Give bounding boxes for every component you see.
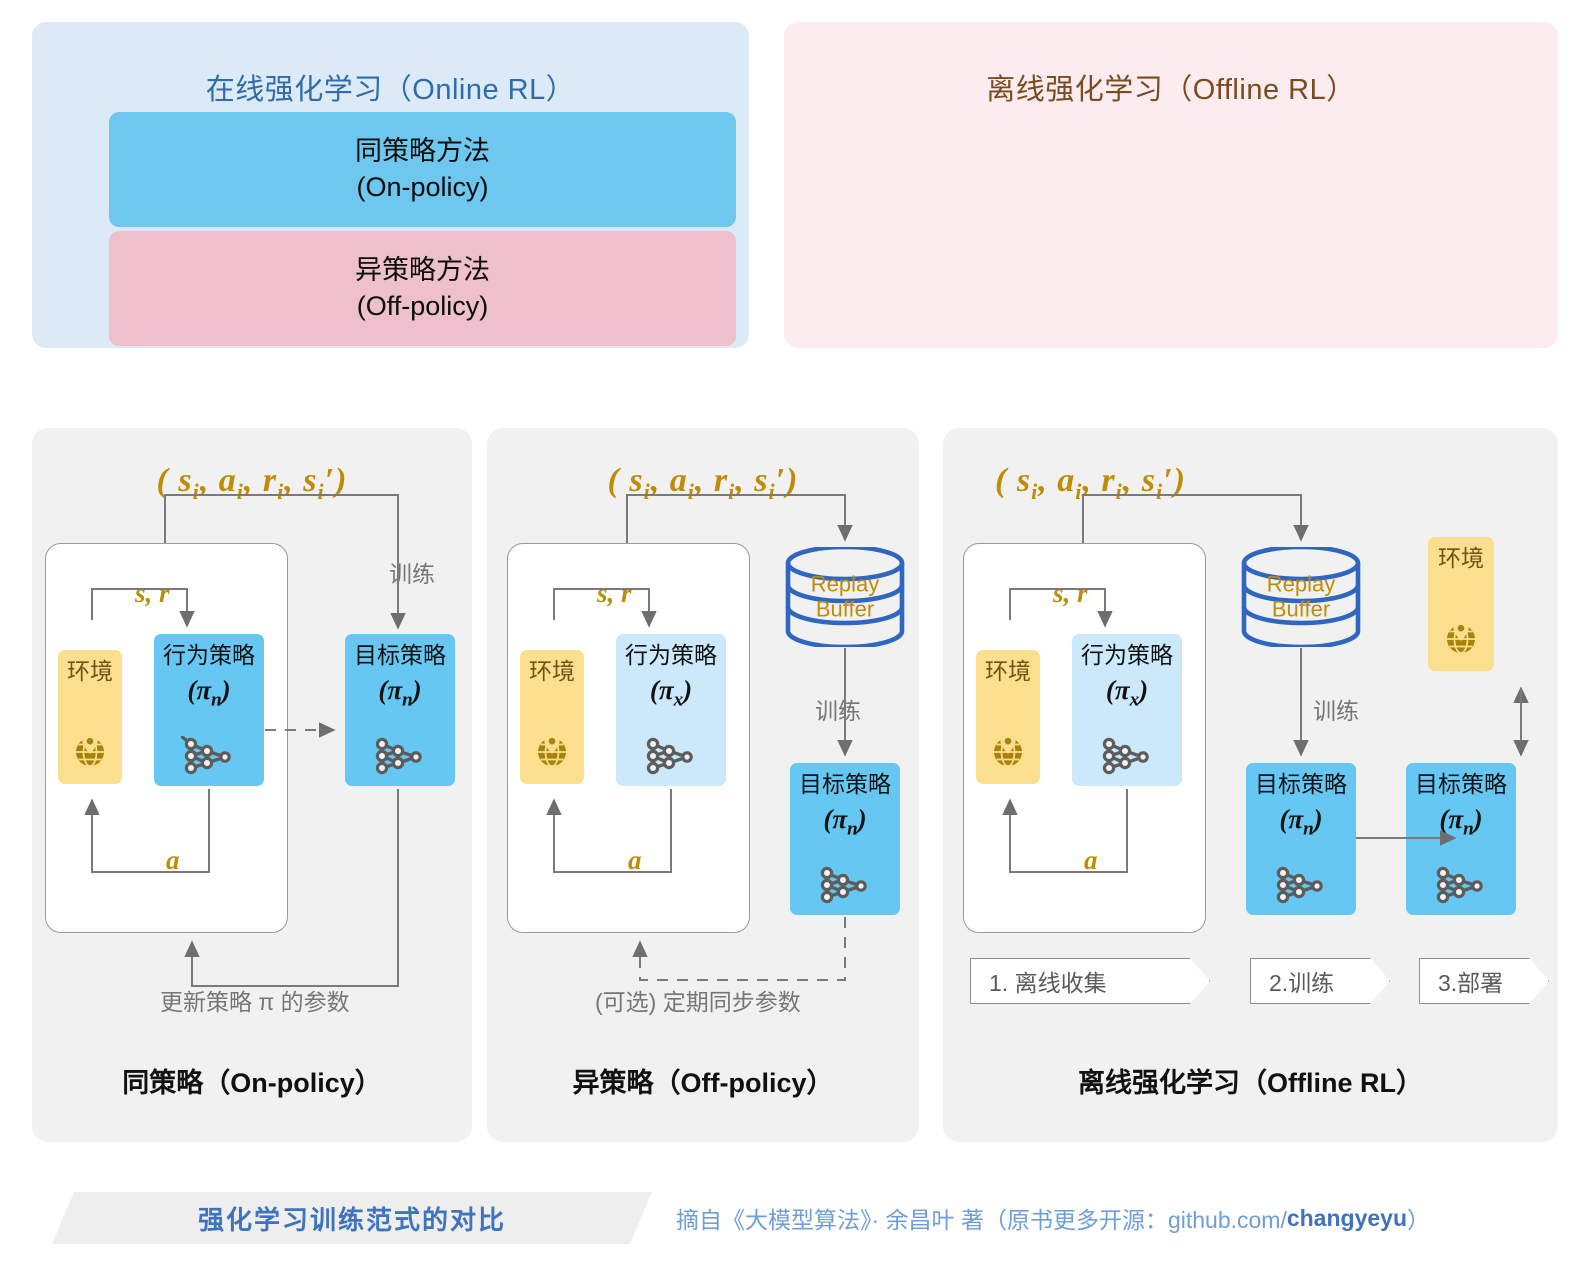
globe-icon (532, 730, 572, 770)
offline-step-1-label: 1. 离线收集 (989, 964, 1107, 998)
neural-network-icon (181, 736, 237, 776)
offpolicy-environment-node: 环境 (520, 650, 584, 784)
offpolicy-replay-buffer: Replay Buffer (780, 547, 910, 647)
diagram-canvas: 在线强化学习（Online RL） 同策略方法 (On-policy) 异策略方… (0, 0, 1590, 1268)
offline-step-1: 1. 离线收集 (970, 958, 1210, 1004)
offline-environment-label: 环境 (985, 659, 1031, 684)
offpolicy-behavior-policy-label: 行为策略 (625, 643, 717, 668)
offline-behavior-policy-label: 行为策略 (1081, 643, 1173, 668)
onpolicy-a-label: a (166, 845, 180, 876)
onpolicy-train-label: 训练 (389, 555, 435, 589)
offline-step-2-label: 2.训练 (1269, 964, 1334, 998)
online-offpolicy-label-en: (Off-policy) (357, 289, 489, 325)
offline-target-policy-deploy-label: 目标策略 (1415, 772, 1507, 797)
offpolicy-target-policy-pi: (πn) (823, 804, 866, 840)
offline-step-3: 3.部署 (1419, 958, 1549, 1004)
neural-network-icon (1433, 865, 1489, 905)
offpolicy-a-label: a (628, 845, 642, 876)
database-cylinder-icon (780, 547, 910, 647)
offpolicy-target-policy-node: 目标策略 (πn) (790, 763, 900, 915)
onpolicy-flow-panel: ( si, ai, ri, si′) s, r a 训练 更新策略 π 的参数 … (32, 428, 472, 1142)
offline-target-policy-train-node: 目标策略 (πn) (1246, 763, 1356, 915)
offline-replay-buffer: Replay Buffer (1236, 547, 1366, 647)
online-onpolicy-label-cn: 同策略方法 (355, 134, 490, 170)
offpolicy-sync-label: (可选) 定期同步参数 (595, 983, 801, 1017)
globe-icon (988, 730, 1028, 770)
offline-deploy-environment-node: 环境 (1428, 537, 1494, 671)
online-onpolicy-label-en: (On-policy) (356, 170, 488, 206)
offline-panel-caption: 离线强化学习（Offline RL） (943, 1061, 1558, 1100)
neural-network-icon (817, 865, 873, 905)
offline-flow-panel: ( si, ai, ri, si′) s, r a 训练 环境 行为策略 ( (943, 428, 1558, 1142)
onpolicy-environment-node: 环境 (58, 650, 122, 784)
online-offpolicy-box: 异策略方法 (Off-policy) (109, 231, 736, 346)
offline-step-3-label: 3.部署 (1438, 964, 1503, 998)
offline-behavior-policy-node: 行为策略 (πx) (1072, 634, 1182, 786)
offpolicy-flow-panel: ( si, ai, ri, si′) s, r a 训练 (可选) 定期同步参数… (487, 428, 919, 1142)
offpolicy-panel-caption: 异策略（Off-policy） (487, 1061, 919, 1100)
offline-target-policy-deploy-pi: (πn) (1439, 804, 1482, 840)
footer-tag-label: 强化学习训练范式的对比 (52, 1192, 652, 1244)
database-cylinder-icon (1236, 547, 1366, 647)
footer-credit-prefix: 摘自《大模型算法》· 余昌叶 著（原书更多开源：github.com/ (676, 1201, 1287, 1235)
offline-rl-panel: 离线强化学习（Offline RL） 异策略方法 (Off-policy) (784, 22, 1558, 348)
onpolicy-environment-label: 环境 (67, 659, 113, 684)
offline-step-2: 2.训练 (1250, 958, 1390, 1004)
neural-network-icon (643, 736, 699, 776)
offline-deploy-environment-label: 环境 (1438, 546, 1484, 571)
onpolicy-target-policy-label: 目标策略 (354, 643, 446, 668)
offpolicy-environment-label: 环境 (529, 659, 575, 684)
offline-rl-title: 离线强化学习（Offline RL） (784, 66, 1558, 108)
onpolicy-panel-caption: 同策略（On-policy） (32, 1061, 472, 1100)
globe-icon (1441, 617, 1481, 657)
offline-target-policy-train-label: 目标策略 (1255, 772, 1347, 797)
footer-credit-handle: changyeyu (1287, 1205, 1407, 1232)
onpolicy-behavior-policy-node: 行为策略 (πn) (154, 634, 264, 786)
online-rl-title: 在线强化学习（Online RL） (32, 66, 749, 108)
onpolicy-behavior-policy-pi: (πn) (187, 675, 230, 711)
onpolicy-update-label: 更新策略 π 的参数 (160, 983, 350, 1017)
onpolicy-sr-label: s, r (135, 578, 170, 609)
offline-environment-node: 环境 (976, 650, 1040, 784)
offpolicy-train-label: 训练 (815, 692, 861, 726)
neural-network-icon (1099, 736, 1155, 776)
onpolicy-behavior-policy-label: 行为策略 (163, 643, 255, 668)
footer-credit: 摘自《大模型算法》· 余昌叶 著（原书更多开源：github.com/chang… (676, 1192, 1430, 1244)
offline-target-policy-train-pi: (πn) (1279, 804, 1322, 840)
offpolicy-target-policy-label: 目标策略 (799, 772, 891, 797)
neural-network-icon (1273, 865, 1329, 905)
offline-behavior-policy-pi: (πx) (1106, 675, 1148, 711)
offline-train-label: 训练 (1313, 692, 1359, 726)
offline-transition-tuple: ( si, ai, ri, si′) (783, 462, 1398, 505)
online-offpolicy-label-cn: 异策略方法 (355, 253, 490, 289)
online-rl-panel: 在线强化学习（Online RL） 同策略方法 (On-policy) 异策略方… (32, 22, 749, 348)
onpolicy-target-policy-node: 目标策略 (πn) (345, 634, 455, 786)
offpolicy-behavior-policy-node: 行为策略 (πx) (616, 634, 726, 786)
offpolicy-sr-label: s, r (597, 578, 632, 609)
offline-sr-label: s, r (1053, 578, 1088, 609)
offpolicy-behavior-policy-pi: (πx) (650, 675, 692, 711)
online-onpolicy-box: 同策略方法 (On-policy) (109, 112, 736, 227)
onpolicy-target-policy-pi: (πn) (378, 675, 421, 711)
footer: 强化学习训练范式的对比 摘自《大模型算法》· 余昌叶 著（原书更多开源：gith… (0, 1186, 1590, 1254)
footer-credit-suffix: ） (1407, 1201, 1430, 1235)
globe-icon (70, 730, 110, 770)
offline-a-label: a (1084, 845, 1098, 876)
neural-network-icon (372, 736, 428, 776)
offline-target-policy-deploy-node: 目标策略 (πn) (1406, 763, 1516, 915)
onpolicy-transition-tuple: ( si, ai, ri, si′) (32, 462, 472, 505)
